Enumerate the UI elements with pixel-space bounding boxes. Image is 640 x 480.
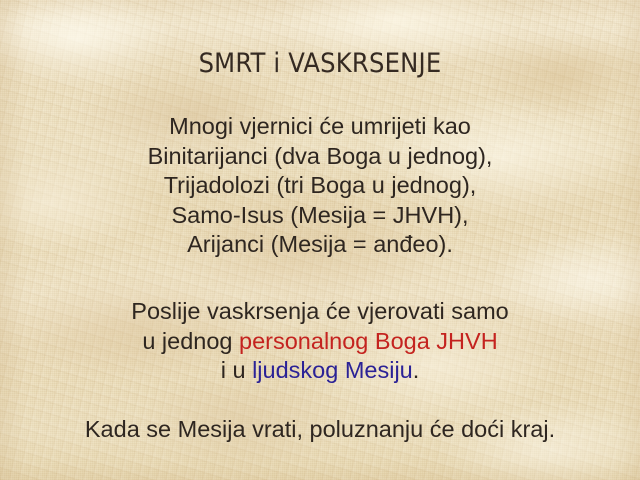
slide-title: SMRT i VASKRSENJE (0, 50, 640, 78)
creeds-line-5: Arijanci (Mesija = anđeo). (0, 230, 640, 260)
belief-line-2-prefix: u jednog (142, 328, 239, 354)
belief-line-3: i u ljudskog Mesiju. (0, 356, 640, 386)
presentation-slide: SMRT i VASKRSENJE Mnogi vjernici će umri… (0, 0, 640, 480)
creeds-line-3: Trijadolozi (tri Boga u jednog), (0, 171, 640, 201)
creeds-line-1: Mnogi vjernici će umrijeti kao (0, 112, 640, 142)
belief-line-2-red-highlight: personalnog Boga JHVH (239, 328, 498, 354)
belief-line-1: Poslije vaskrsenja će vjerovati samo (0, 297, 640, 327)
creeds-line-4: Samo-Isus (Mesija = JHVH), (0, 201, 640, 231)
closing-line: Kada se Mesija vrati, poluznanju će doći… (0, 415, 640, 445)
closing-paragraph: Kada se Mesija vrati, poluznanju će doći… (0, 415, 640, 445)
belief-paragraph: Poslije vaskrsenja će vjerovati samo u j… (0, 297, 640, 386)
creeds-line-2: Binitarijanci (dva Boga u jednog), (0, 142, 640, 172)
belief-line-3-suffix: . (413, 357, 420, 383)
belief-line-2: u jednog personalnog Boga JHVH (0, 327, 640, 357)
belief-line-3-blue-highlight: ljudskog Mesiju (252, 357, 413, 383)
creeds-paragraph: Mnogi vjernici će umrijeti kao Binitarij… (0, 112, 640, 260)
belief-line-3-prefix: i u (221, 357, 252, 383)
slide-content: SMRT i VASKRSENJE Mnogi vjernici će umri… (0, 0, 640, 480)
